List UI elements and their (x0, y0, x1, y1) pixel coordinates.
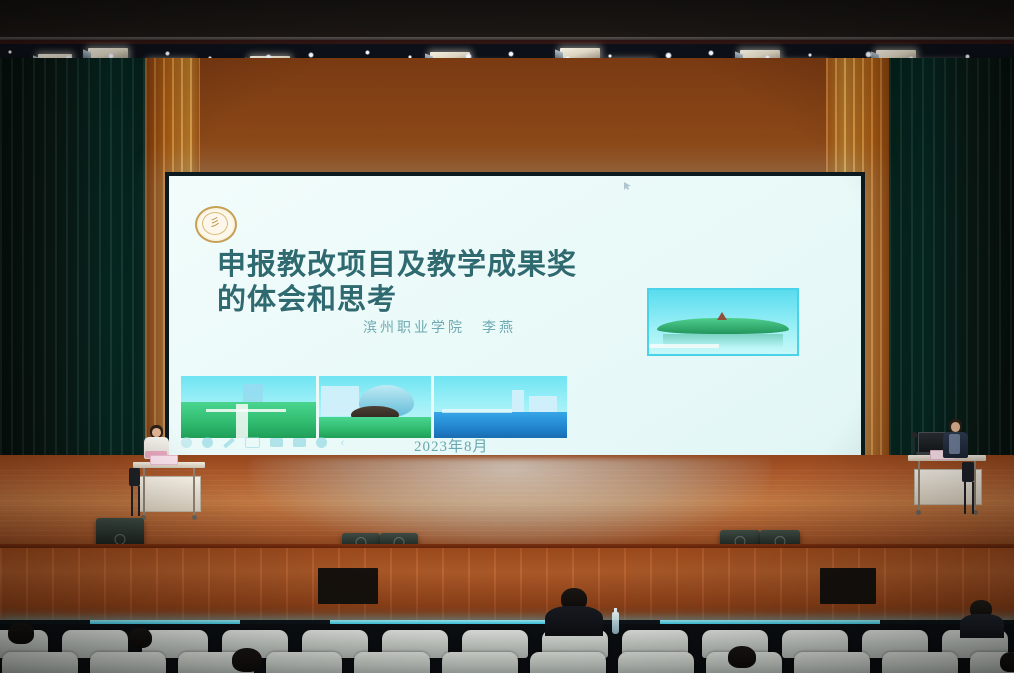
audience-seat (794, 652, 870, 673)
desk-name-card (150, 455, 178, 465)
slide-view-icon[interactable] (270, 438, 283, 447)
presentation-slide: 彡 申报教改项目及教学成果奖 的体会和思考 滨州职业学院 李燕 (169, 176, 861, 458)
pen-tool-icon[interactable] (202, 437, 213, 448)
audience-seat (618, 652, 694, 673)
truss-led (708, 50, 714, 56)
desk-microphone (913, 436, 915, 454)
audience-seat (882, 652, 958, 673)
audience-area (0, 624, 1014, 673)
audience-head (128, 628, 152, 648)
truss-led (165, 51, 170, 56)
chair-right (962, 462, 978, 514)
stage-vent-left (318, 568, 378, 604)
highlighter-icon[interactable] (223, 437, 235, 448)
slide-photo-campus-aerial (181, 376, 316, 438)
audience-seat (530, 652, 606, 673)
mouse-cursor-icon (624, 182, 631, 190)
truss-led (865, 51, 872, 58)
slide-subtitle: 滨州职业学院 李燕 (363, 317, 516, 337)
truss-led (8, 50, 12, 54)
more-options-icon[interactable] (316, 437, 327, 448)
projection-screen: 彡 申报教改项目及教学成果奖 的体会和思考 滨州职业学院 李燕 (165, 172, 865, 462)
slide-date: 2023年8月 (414, 435, 489, 456)
audience-seat (354, 652, 430, 673)
chair-left (129, 468, 143, 516)
audience-head (8, 622, 34, 644)
truss-led (508, 51, 514, 57)
emblem-glyph: 彡 (202, 212, 228, 235)
pointer-icon[interactable] (181, 437, 192, 448)
truss-led (365, 50, 370, 55)
audience-member-standing (545, 588, 603, 636)
audience-head (232, 648, 262, 672)
audience-seat (2, 652, 78, 673)
slide-photo-lake-pavilion (647, 288, 799, 356)
presentation-toolbar[interactable]: ‹ (181, 437, 348, 448)
audience-head (1000, 652, 1014, 672)
audience-member-right (960, 600, 1004, 636)
slide-photo-waterfront (434, 376, 567, 438)
audience-head (728, 646, 756, 668)
laser-pointer-icon[interactable] (245, 437, 260, 448)
water-bottle (612, 612, 619, 634)
slide-title-line1: 申报教改项目及教学成果奖 (217, 248, 817, 283)
audience-seat (266, 652, 342, 673)
stage-vent-right (820, 568, 876, 604)
previous-slide-icon[interactable]: ‹ (337, 437, 348, 448)
subtitle-icon[interactable] (293, 438, 306, 447)
seated-operator-left (143, 425, 169, 473)
audience-seat (90, 652, 166, 673)
truss-led (808, 53, 812, 57)
slide-photo-dome-building (319, 376, 431, 438)
audience-seat (442, 652, 518, 673)
auditorium-scene: 彡 申报教改项目及教学成果奖 的体会和思考 滨州职业学院 李燕 (0, 0, 1014, 673)
